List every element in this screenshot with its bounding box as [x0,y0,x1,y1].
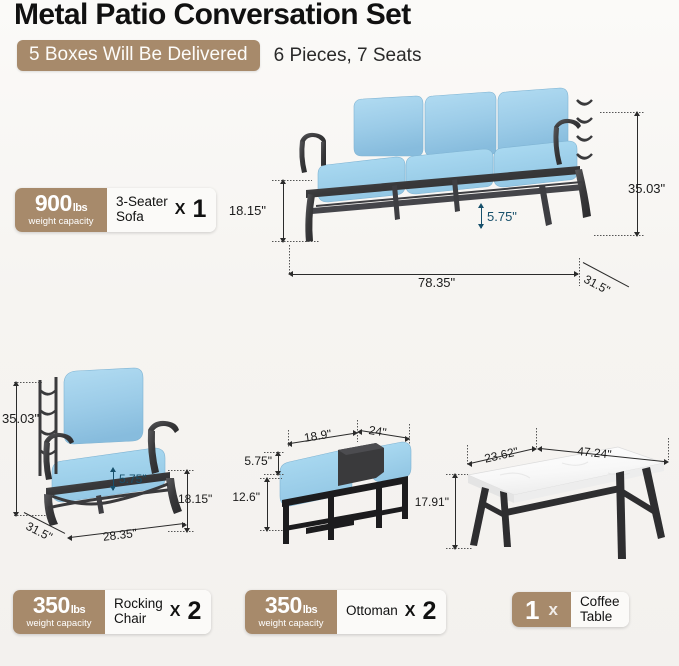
badge-coffee-table-item: Coffee Table [571,592,630,627]
pieces-seats-note: 6 Pieces, 7 Seats [274,45,422,67]
badge-sofa-item-name: 3-Seater Sofa [116,195,168,224]
page-title: Metal Patio Conversation Set [14,0,411,32]
badge-rocking-chair-capacity-value: 350 [33,592,70,618]
badge-rocking-chair-capacity-label: weight capacity [27,619,92,629]
badge-rocking-chair-capacity-unit: lbs [71,604,85,616]
badge-ottoman-capacity-value: 350 [265,592,302,618]
badge-sofa-capacity-value: 900 [35,190,72,216]
badge-sofa: 900lbs weight capacity 3-Seater Sofa X 1 [15,188,216,232]
badge-rocking-chair-item-name: Rocking Chair [114,597,163,626]
badge-coffee-table-x: x [548,600,557,620]
badge-coffee-table-item-name: Coffee Table [580,595,620,624]
badge-ottoman-capacity-unit: lbs [303,604,317,616]
infographic-page: Metal Patio Conversation Set 5 Boxes Wil… [0,0,679,666]
badge-ottoman: 350lbs weight capacity Ottoman X 2 [245,590,446,634]
badge-ottoman-x: X [405,603,416,621]
rocking-chair-illustration [30,368,210,538]
badge-sofa-quantity: 1 [192,197,206,222]
badge-ottoman-item-name: Ottoman [346,604,398,619]
coffee-table-illustration [466,447,666,572]
badge-sofa-capacity-unit: lbs [73,202,87,214]
badge-sofa-x: X [175,201,186,219]
badge-rocking-chair-capacity: 350lbs weight capacity [13,590,105,634]
ottoman-illustration [276,438,416,548]
badge-coffee-table-quantity: 1 [525,597,539,623]
watermark [395,300,505,340]
badge-ottoman-capacity: 350lbs weight capacity [245,590,337,634]
badge-rocking-chair-x: X [170,603,181,621]
badge-rocking-chair-item: Rocking Chair X 2 [105,590,211,634]
badge-ottoman-quantity: 2 [422,599,436,624]
badge-sofa-capacity: 900lbs weight capacity [15,188,107,232]
badge-coffee-table-count: 1 x [512,592,571,627]
header-subrow: 5 Boxes Will Be Delivered 6 Pieces, 7 Se… [17,40,421,71]
badge-ottoman-item: Ottoman X 2 [337,590,446,634]
badge-sofa-item: 3-Seater Sofa X 1 [107,188,216,232]
badge-rocking-chair: 350lbs weight capacity Rocking Chair X 2 [13,590,211,634]
badge-ottoman-capacity-label: weight capacity [259,619,324,629]
badge-rocking-chair-quantity: 2 [187,599,201,624]
badge-sofa-capacity-label: weight capacity [29,217,94,227]
badge-coffee-table: 1 x Coffee Table [512,592,629,627]
sofa-illustration [292,86,642,301]
delivery-boxes-pill: 5 Boxes Will Be Delivered [17,40,260,71]
